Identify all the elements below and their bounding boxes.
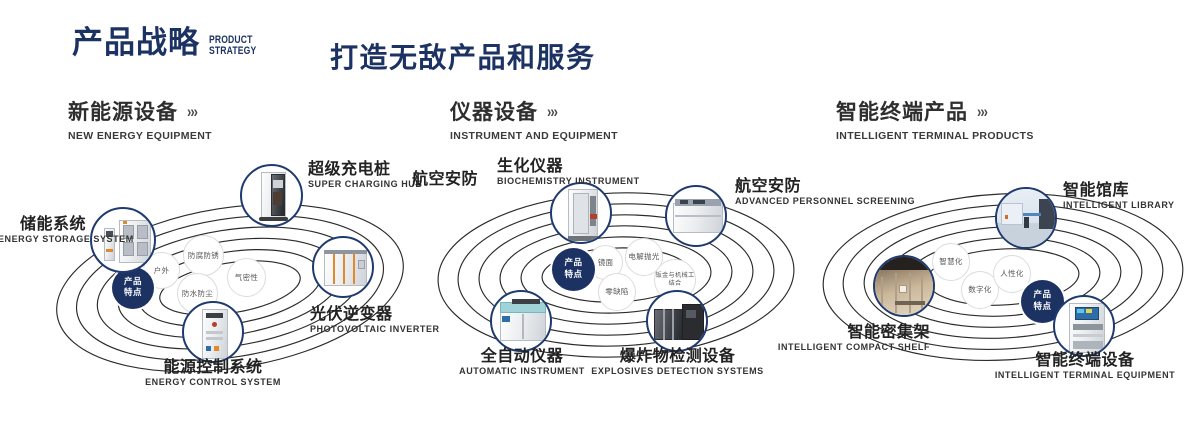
product-photo-terminal-equipment bbox=[1055, 297, 1113, 355]
core-badge-line1: 产品 bbox=[1033, 290, 1051, 301]
core-badge-line2: 特点 bbox=[1033, 302, 1051, 313]
node-caption-intelligent-terminal-equipment: 智能终端设备 INTELLIGENT TERMINAL EQUIPMENT bbox=[970, 351, 1200, 381]
node-caption-intelligent-compact-shelf: 智能密集架 INTELLIGENT COMPACT SHELF bbox=[765, 323, 930, 353]
product-photo-charging-hub bbox=[242, 166, 301, 225]
section-title-en: INSTRUMENT AND EQUIPMENT bbox=[450, 130, 618, 142]
chevron-right-icon: ››› bbox=[547, 102, 557, 121]
section-title-en: NEW ENERGY EQUIPMENT bbox=[68, 130, 212, 142]
node-intelligent-terminal-equipment[interactable] bbox=[1053, 295, 1115, 357]
section-title-en: INTELLIGENT TERMINAL PRODUCTS bbox=[836, 130, 1034, 142]
node-caption-en: INTELLIGENT COMPACT SHELF bbox=[765, 342, 930, 353]
cluster-instrument: 镜面 电解抛光 零缺陷 钣金与机械工结合 产品 特点 生化仪器 BIOCHEMI… bbox=[420, 155, 810, 405]
page-header: 产品战略 PRODUCT STRATEGY bbox=[72, 28, 270, 59]
feature-bubble: 智慧化 bbox=[932, 243, 970, 281]
section-title-cn: 智能终端产品 bbox=[836, 96, 968, 126]
node-caption-cn: 能源控制系统 bbox=[88, 358, 338, 376]
node-caption-energy-control-system: 能源控制系统 ENERGY CONTROL SYSTEM bbox=[88, 358, 338, 388]
node-caption-energy-storage-system: 储能系统 ENERGY STORAGE SYSTEM bbox=[0, 215, 86, 245]
cluster-new-energy: 防腐防锈 户外 防水防尘 气密性 产品 特点 储能系统 ENERGY STORA… bbox=[40, 155, 420, 405]
feature-bubble: 气密性 bbox=[227, 258, 266, 297]
product-photo-biochemistry bbox=[552, 184, 610, 242]
node-caption-en: SUPER CHARGING HUB bbox=[308, 179, 422, 190]
chevron-right-icon: ››› bbox=[187, 102, 197, 121]
section-heading-intelligent-terminal: 智能终端产品 ››› INTELLIGENT TERMINAL PRODUCTS bbox=[836, 96, 1034, 142]
node-explosives-detection-systems[interactable] bbox=[646, 290, 708, 352]
product-photo-inverter bbox=[314, 238, 372, 296]
cluster-intelligent-terminal: 智慧化 数字化 人性化 产品 特点 智能馆库 INTELLIGENT LIBRA… bbox=[805, 155, 1200, 405]
page-title-cn: 产品战略 bbox=[72, 28, 200, 59]
page-title-en-line2: STRATEGY bbox=[209, 46, 256, 57]
product-photo-compact-shelf bbox=[875, 257, 933, 315]
node-caption-cn: 智能终端设备 bbox=[970, 351, 1200, 369]
node-super-charging-hub[interactable] bbox=[240, 164, 303, 227]
node-caption-cn: 智能密集架 bbox=[765, 323, 930, 341]
core-badge-product-features: 产品 特点 bbox=[112, 267, 154, 309]
node-caption-cn: 智能馆库 bbox=[1063, 181, 1175, 199]
node-caption-cn: 生化仪器 bbox=[497, 157, 563, 175]
page-title-en: PRODUCT STRATEGY bbox=[209, 35, 256, 57]
node-caption-en: ENERGY STORAGE SYSTEM bbox=[0, 234, 86, 245]
core-badge-line1: 产品 bbox=[124, 277, 142, 288]
section-heading-instrument: 仪器设备 ››› INSTRUMENT AND EQUIPMENT bbox=[450, 96, 618, 142]
node-advanced-personnel-screening[interactable] bbox=[665, 185, 727, 247]
core-badge-line2: 特点 bbox=[124, 288, 142, 299]
node-automatic-instrument[interactable] bbox=[490, 290, 552, 352]
node-caption-en: INTELLIGENT LIBRARY bbox=[1063, 200, 1175, 211]
product-photo-explosives-detection bbox=[648, 292, 706, 350]
node-caption-cn: 航空安防 bbox=[412, 170, 478, 188]
node-caption-en: BIOCHEMISTRY INSTRUMENT bbox=[497, 176, 559, 186]
product-photo-automatic-instrument bbox=[492, 292, 550, 350]
feature-bubble: 防腐防锈 bbox=[183, 235, 224, 276]
section-title-cn: 仪器设备 bbox=[450, 96, 538, 126]
node-caption-en: ENERGY CONTROL SYSTEM bbox=[88, 377, 338, 388]
section-title-cn: 新能源设备 bbox=[68, 96, 178, 126]
node-caption-en: INTELLIGENT TERMINAL EQUIPMENT bbox=[970, 370, 1200, 381]
node-biochemistry-instrument[interactable] bbox=[550, 182, 612, 244]
node-caption-aviation-security-secondary: 航空安防 bbox=[412, 170, 478, 188]
chevron-right-icon: ››› bbox=[977, 102, 987, 121]
page-subtitle: 打造无敌产品和服务 bbox=[330, 36, 596, 76]
node-energy-control-system[interactable] bbox=[182, 301, 244, 363]
product-photo-control-system bbox=[184, 303, 242, 361]
node-caption-explosives-detection-systems: 爆炸物检测设备 EXPLOSIVES DETECTION SYSTEMS bbox=[565, 347, 790, 377]
node-caption-cn: 爆炸物检测设备 bbox=[565, 347, 790, 365]
core-badge-product-features: 产品 特点 bbox=[552, 248, 595, 291]
node-caption-super-charging-hub: 超级充电桩 SUPER CHARGING HUB bbox=[308, 160, 422, 190]
feature-bubble: 零缺陷 bbox=[598, 273, 636, 311]
node-photovoltaic-inverter[interactable] bbox=[312, 236, 374, 298]
core-badge-line2: 特点 bbox=[564, 270, 582, 281]
node-caption-cn: 超级充电桩 bbox=[308, 160, 422, 178]
node-caption-en: EXPLOSIVES DETECTION SYSTEMS bbox=[565, 366, 790, 377]
section-heading-new-energy: 新能源设备 ››› NEW ENERGY EQUIPMENT bbox=[68, 96, 212, 142]
product-photo-screening bbox=[667, 187, 725, 245]
node-caption-cn: 储能系统 bbox=[0, 215, 86, 233]
node-caption-intelligent-library: 智能馆库 INTELLIGENT LIBRARY bbox=[1063, 181, 1175, 211]
node-intelligent-library[interactable] bbox=[995, 187, 1057, 249]
node-intelligent-compact-shelf[interactable] bbox=[873, 255, 935, 317]
core-badge-line1: 产品 bbox=[564, 258, 582, 269]
product-photo-library bbox=[997, 189, 1055, 247]
